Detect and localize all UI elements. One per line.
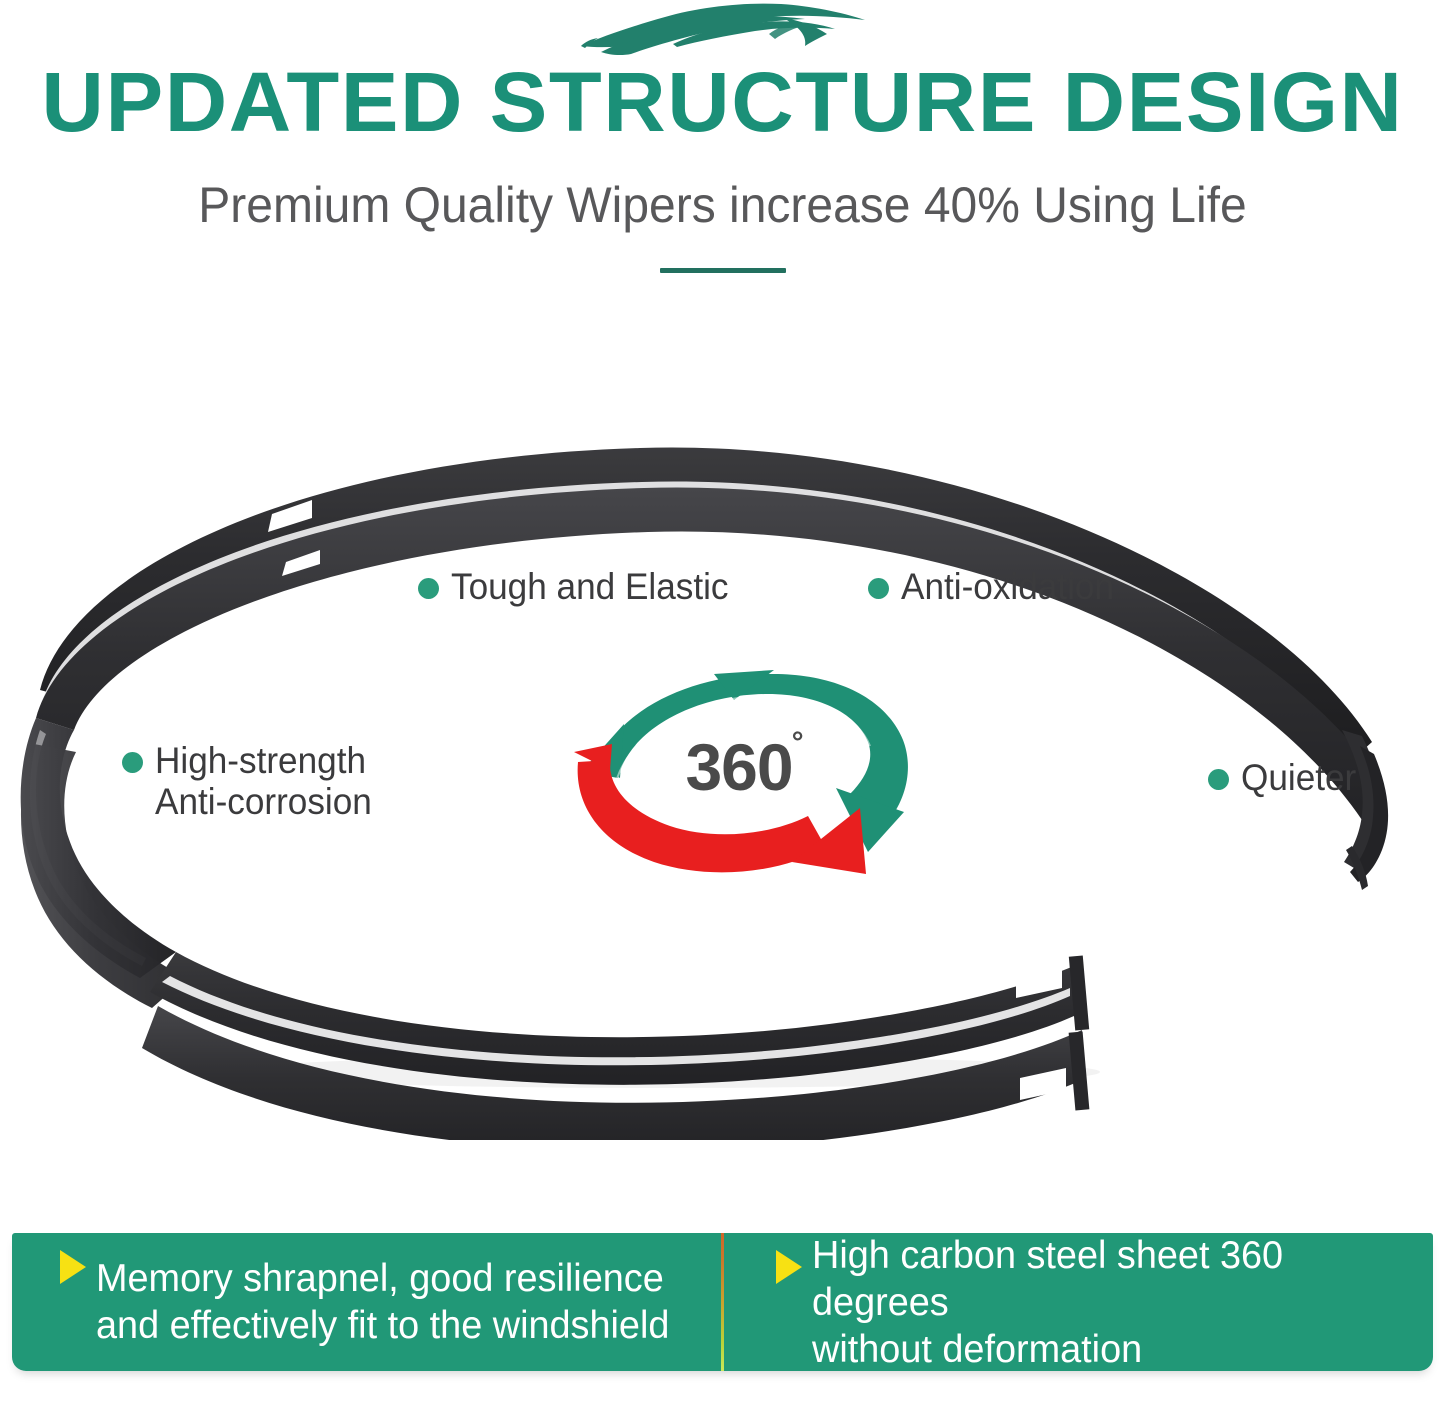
title-divider — [660, 268, 786, 273]
feature-label: Anti-oxidation — [901, 566, 1114, 607]
bullet-dot-icon — [418, 578, 439, 599]
feature-label: Tough and Elastic — [451, 566, 728, 607]
bottom-feature-banner: Memory shrapnel, good resilienceand effe… — [12, 1233, 1433, 1371]
feature-anti-oxidation: Anti-oxidation — [868, 566, 1125, 607]
badge-number: 360 — [685, 734, 792, 800]
page-subtitle: Premium Quality Wipers increase 40% Usin… — [29, 176, 1416, 234]
feature-high-strength-anti-corrosion: High-strengthAnti-corrosion — [122, 740, 383, 822]
badge-360-text: 360 ° — [568, 666, 918, 876]
rotation-360-badge: 360 ° — [568, 666, 918, 876]
banner-item-right: High carbon steel sheet 360 degreeswitho… — [724, 1233, 1433, 1371]
car-silhouette-icon — [573, 2, 873, 60]
feature-quieter: Quieter — [1208, 757, 1362, 798]
page-title: UPDATED STRUCTURE DESIGN — [0, 58, 1445, 146]
triangle-right-icon — [776, 1250, 802, 1284]
banner-text: Memory shrapnel, good resilienceand effe… — [96, 1255, 669, 1349]
banner-text: High carbon steel sheet 360 degreeswitho… — [812, 1233, 1414, 1371]
feature-label: High-strengthAnti-corrosion — [155, 740, 372, 822]
feature-tough-and-elastic: Tough and Elastic — [418, 566, 743, 607]
product-infographic-page: UPDATED STRUCTURE DESIGN Premium Quality… — [0, 0, 1445, 1421]
banner-item-left: Memory shrapnel, good resilienceand effe… — [12, 1233, 721, 1371]
bullet-dot-icon — [1208, 769, 1229, 790]
bullet-dot-icon — [868, 578, 889, 599]
badge-degree-symbol: ° — [792, 726, 804, 760]
feature-label: Quieter — [1241, 757, 1356, 798]
triangle-right-icon — [60, 1250, 86, 1284]
bullet-dot-icon — [122, 752, 143, 773]
